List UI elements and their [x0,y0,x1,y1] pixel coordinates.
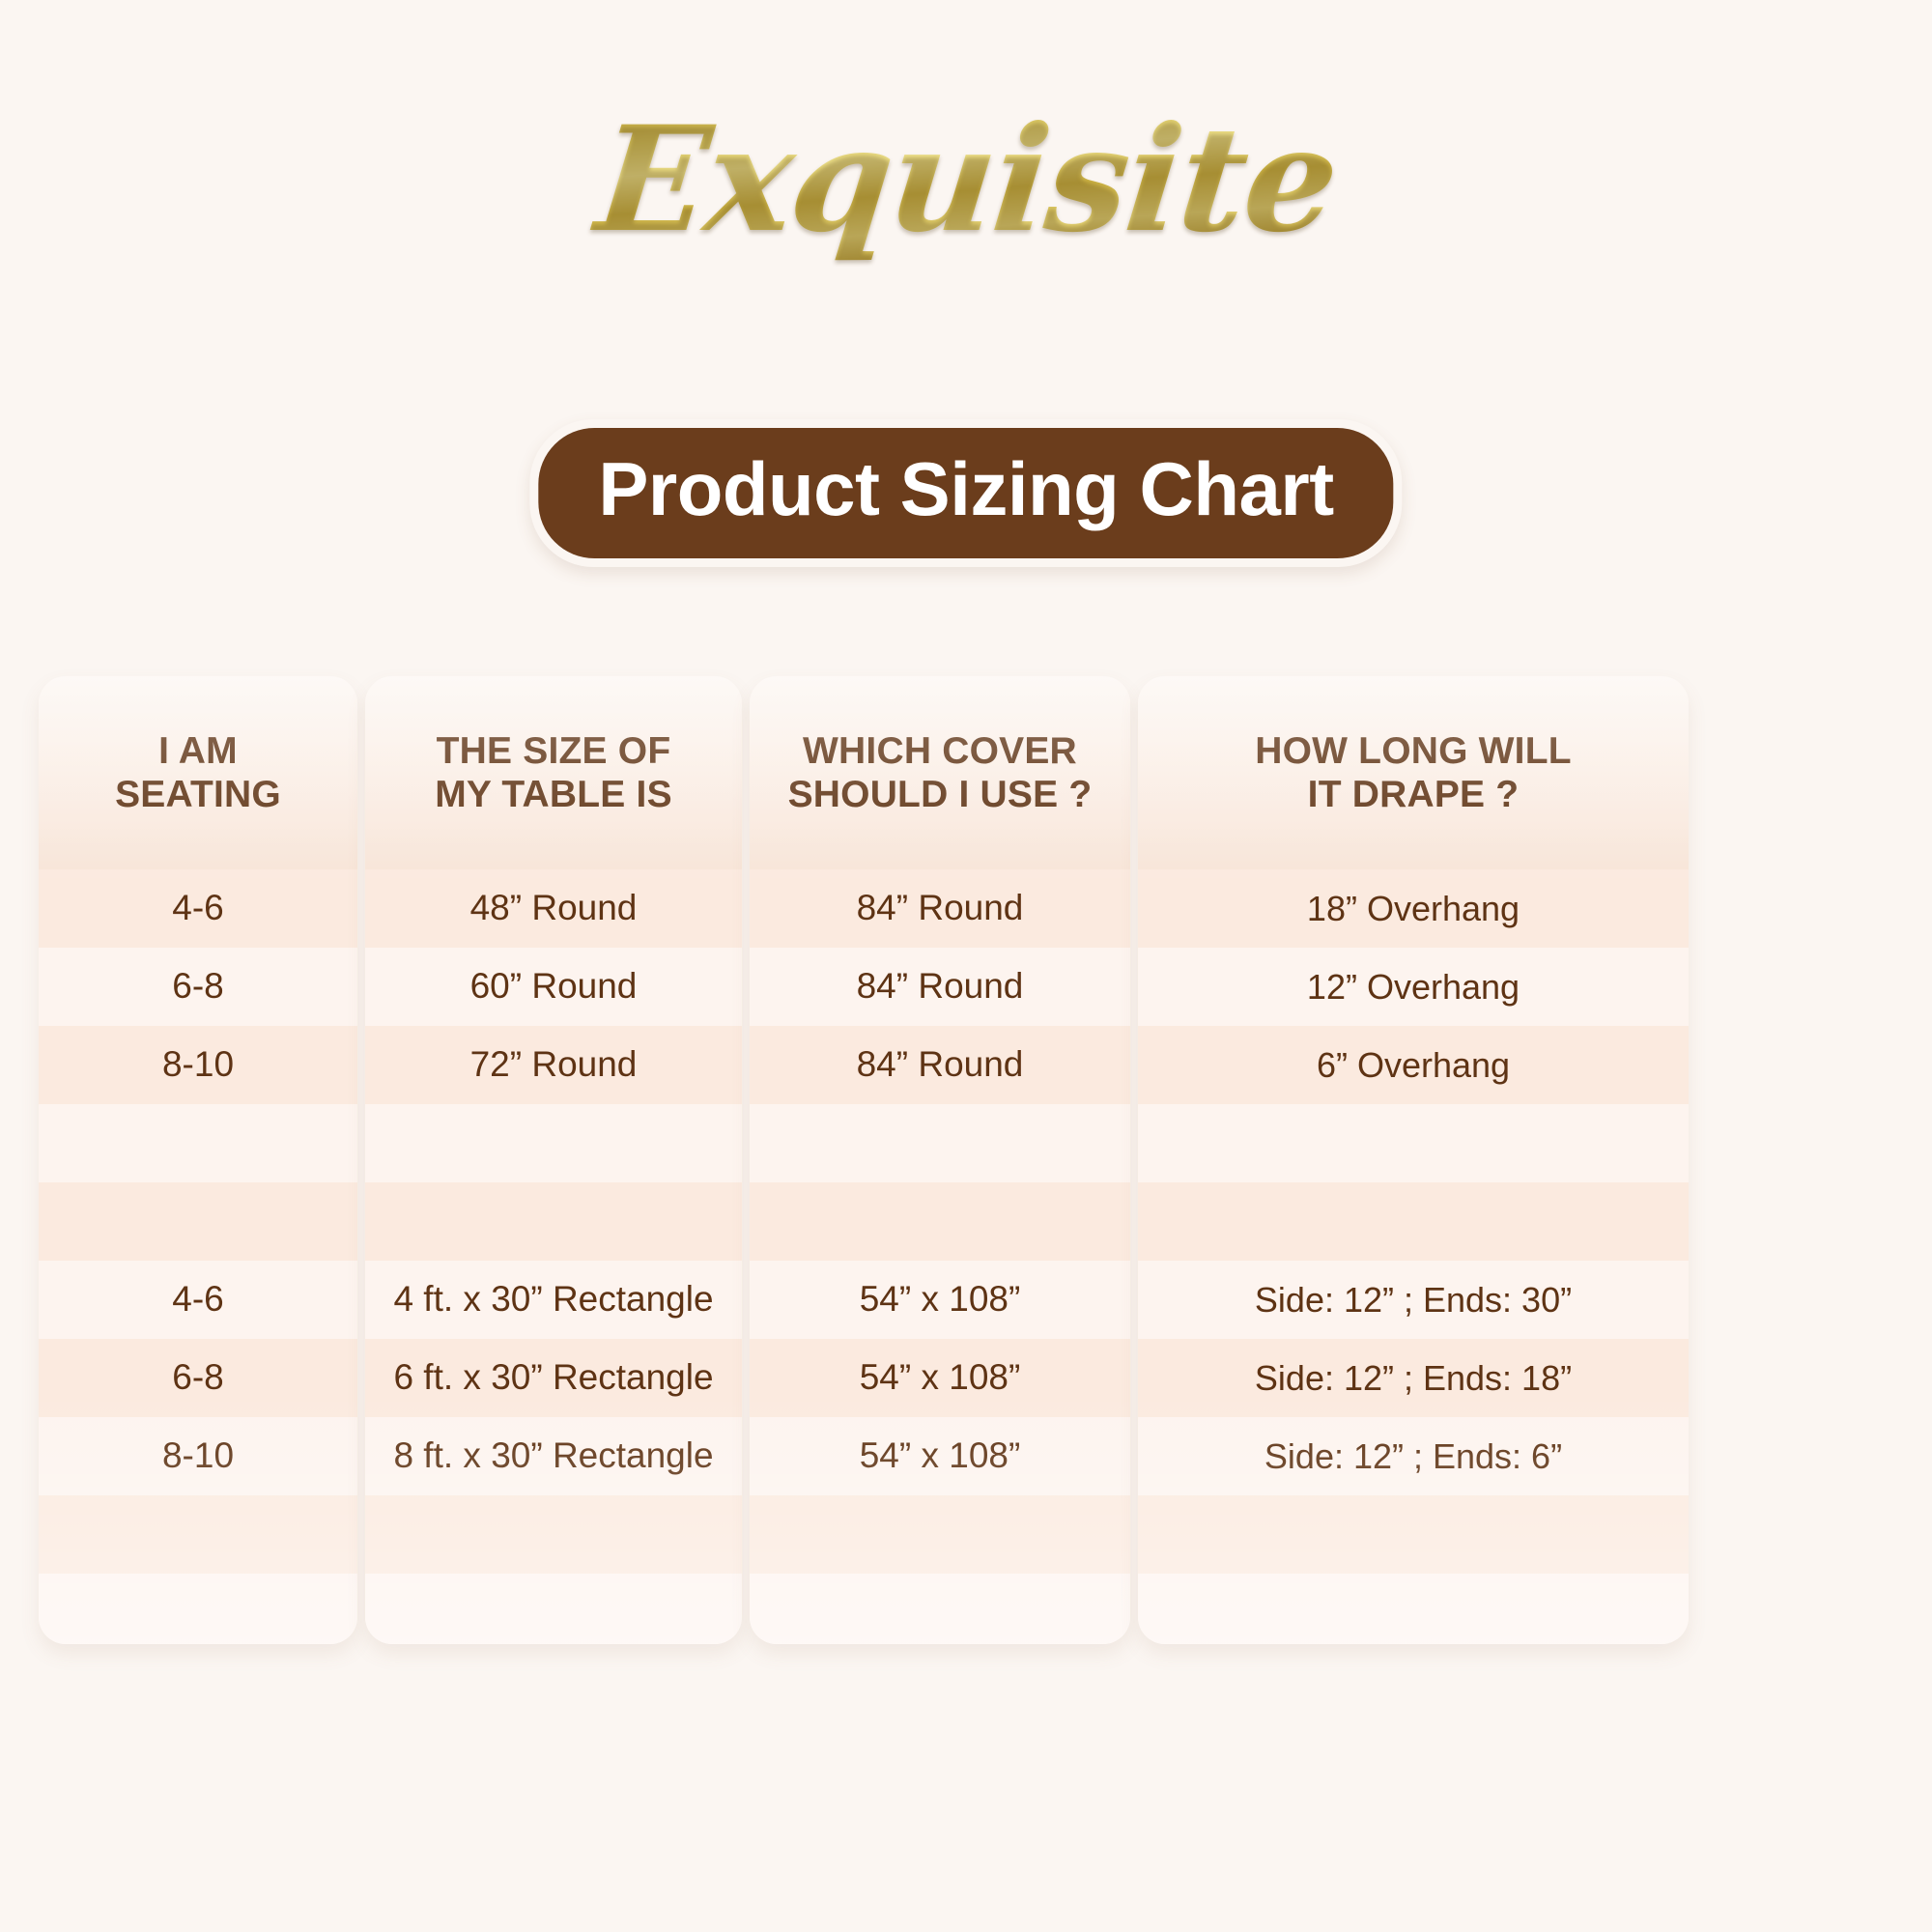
table-column-seating: I AM SEATING 4-6 6-8 8-10 4-6 6-8 8-10 [39,676,357,1644]
table-row-spacer [365,1104,742,1182]
cell-value: 84” Round [857,967,1024,1007]
table-row-spacer [750,1495,1130,1574]
table-row-spacer [750,1104,1130,1182]
table-row-spacer [1138,1104,1689,1182]
table-row: 8-10 [39,1417,357,1495]
table-row: 12” Overhang [1138,948,1689,1026]
table-row: 48” Round [365,869,742,948]
table-row-spacer [365,1495,742,1574]
cell-value: 48” Round [470,889,638,928]
column-header-cover: WHICH COVER SHOULD I USE ? [750,676,1130,869]
table-row-spacer [1138,1495,1689,1574]
cell-value: 8-10 [162,1045,234,1085]
table-row-spacer [39,1182,357,1261]
table-row: Side: 12” ; Ends: 30” [1138,1261,1689,1339]
column-header-label: I AM SEATING [115,729,281,816]
cell-value: Side: 12” ; Ends: 6” [1264,1437,1562,1476]
cell-value: 60” Round [470,967,638,1007]
table-row: 54” x 108” [750,1261,1130,1339]
column-header-label: THE SIZE OF MY TABLE IS [435,729,672,816]
table-row: 4-6 [39,1261,357,1339]
sizing-chart-table: I AM SEATING 4-6 6-8 8-10 4-6 6-8 8-10 T… [39,676,1893,1644]
table-row-spacer [39,1104,357,1182]
cell-value: 6 ft. x 30” Rectangle [393,1358,713,1398]
table-row: 84” Round [750,1026,1130,1104]
table-row-spacer [750,1574,1130,1644]
table-row: Side: 12” ; Ends: 18” [1138,1339,1689,1417]
table-row-spacer [365,1182,742,1261]
column-header-seating: I AM SEATING [39,676,357,869]
cell-value: 18” Overhang [1307,890,1520,928]
cell-value: 54” x 108” [860,1358,1021,1398]
table-row-spacer [39,1574,357,1644]
table-row: 54” x 108” [750,1339,1130,1417]
column-header-drape: HOW LONG WILL IT DRAPE ? [1138,676,1689,869]
table-row: 4 ft. x 30” Rectangle [365,1261,742,1339]
brand-logo: Exquisite [0,85,1932,288]
page-title-banner-inner: Product Sizing Chart [538,428,1393,558]
table-row-spacer [365,1574,742,1644]
cell-value: 8 ft. x 30” Rectangle [393,1436,713,1476]
cell-value: 6-8 [172,1358,223,1398]
column-header-label: HOW LONG WILL IT DRAPE ? [1255,729,1572,816]
table-row-spacer [1138,1574,1689,1644]
cell-value: 72” Round [470,1045,638,1085]
page-title: Product Sizing Chart [598,449,1333,529]
table-row: 8 ft. x 30” Rectangle [365,1417,742,1495]
table-row-spacer [750,1182,1130,1261]
page-title-banner: Product Sizing Chart [529,419,1402,567]
table-column-table-size: THE SIZE OF MY TABLE IS 48” Round 60” Ro… [365,676,742,1644]
table-row: 60” Round [365,948,742,1026]
table-column-drape: HOW LONG WILL IT DRAPE ? 18” Overhang 12… [1138,676,1689,1644]
table-row: 84” Round [750,948,1130,1026]
cell-value: 12” Overhang [1307,968,1520,1007]
cell-value: Side: 12” ; Ends: 18” [1255,1359,1572,1398]
cell-value: 8-10 [162,1436,234,1476]
column-header-label: WHICH COVER SHOULD I USE ? [788,729,1093,816]
table-row: 84” Round [750,869,1130,948]
cell-value: 6” Overhang [1317,1046,1510,1085]
table-row: Side: 12” ; Ends: 6” [1138,1417,1689,1495]
table-row: 8-10 [39,1026,357,1104]
table-row: 18” Overhang [1138,869,1689,948]
table-row: 6” Overhang [1138,1026,1689,1104]
table-row: 6-8 [39,1339,357,1417]
cell-value: 4-6 [172,889,223,928]
table-row: 72” Round [365,1026,742,1104]
cell-value: 54” x 108” [860,1280,1021,1320]
cell-value: 4 ft. x 30” Rectangle [393,1280,713,1320]
cell-value: 84” Round [857,1045,1024,1085]
table-row: 6-8 [39,948,357,1026]
brand-logo-text: Exquisite [580,107,1352,266]
column-header-table-size: THE SIZE OF MY TABLE IS [365,676,742,869]
table-row: 6 ft. x 30” Rectangle [365,1339,742,1417]
cell-value: 4-6 [172,1280,223,1320]
table-row: 4-6 [39,869,357,948]
cell-value: 84” Round [857,889,1024,928]
cell-value: Side: 12” ; Ends: 30” [1255,1281,1572,1320]
table-column-cover: WHICH COVER SHOULD I USE ? 84” Round 84”… [750,676,1130,1644]
table-row-spacer [39,1495,357,1574]
cell-value: 6-8 [172,967,223,1007]
cell-value: 54” x 108” [860,1436,1021,1476]
table-row-spacer [1138,1182,1689,1261]
table-row: 54” x 108” [750,1417,1130,1495]
